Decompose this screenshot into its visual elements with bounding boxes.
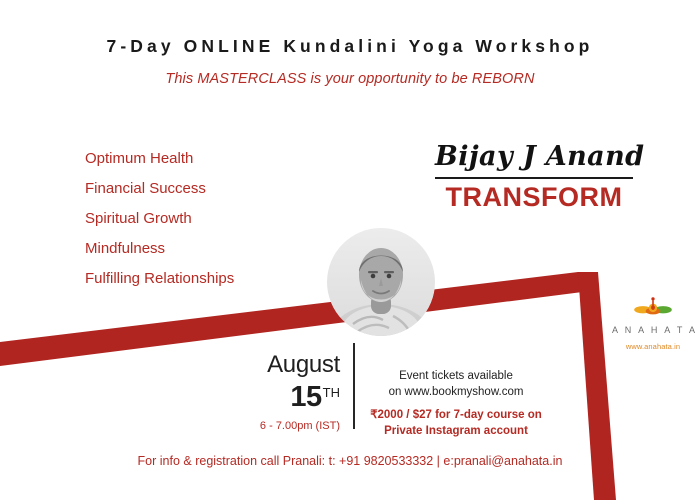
ticket-price-line-2: Private Instagram account [366, 423, 546, 439]
list-item: Optimum Health [85, 144, 345, 174]
anahata-logo: A N A H A T A www.anahata.in [612, 296, 694, 351]
portrait-illustration [327, 228, 435, 336]
ticket-availability-line-1: Event tickets available [366, 368, 546, 384]
event-day-suffix: TH [323, 385, 340, 400]
list-item: Spiritual Growth [85, 204, 345, 234]
page-title: 7-Day ONLINE Kundalini Yoga Workshop [0, 36, 700, 57]
contact-info: For info & registration call Pranali: t:… [0, 454, 700, 468]
vertical-divider [353, 343, 355, 429]
avatar [327, 228, 435, 336]
logo-url[interactable]: www.anahata.in [612, 342, 694, 351]
page-subtitle: This MASTERCLASS is your opportunity to … [0, 71, 700, 87]
event-day: 15 [290, 381, 321, 413]
list-item: Fulfilling Relationships [85, 264, 345, 294]
poster-canvas: 7-Day ONLINE Kundalini Yoga Workshop Thi… [0, 0, 700, 500]
spacer [366, 400, 546, 407]
ticket-price-line-1: ₹2000 / $27 for 7-day course on [366, 407, 546, 423]
event-date-block: August 15TH 6 - 7.00pm (IST) [228, 352, 340, 432]
event-time: 6 - 7.00pm (IST) [228, 420, 340, 432]
ticket-info-block: Event tickets available on www.bookmysho… [366, 368, 546, 439]
brand-divider [435, 177, 633, 179]
lotus-diya-icon [631, 296, 675, 318]
benefits-list: Optimum Health Financial Success Spiritu… [85, 144, 345, 294]
program-name: TRANSFORM [435, 181, 633, 213]
event-day-row: 15TH [228, 378, 340, 417]
event-month: August [228, 352, 340, 378]
presenter-name: Bijay J Anand [435, 140, 633, 174]
ticket-availability-line-2: on www.bookmyshow.com [366, 384, 546, 400]
logo-wordmark: A N A H A T A [612, 325, 694, 335]
brand-block: Bijay J Anand TRANSFORM [435, 140, 633, 213]
list-item: Mindfulness [85, 234, 345, 264]
list-item: Financial Success [85, 174, 345, 204]
